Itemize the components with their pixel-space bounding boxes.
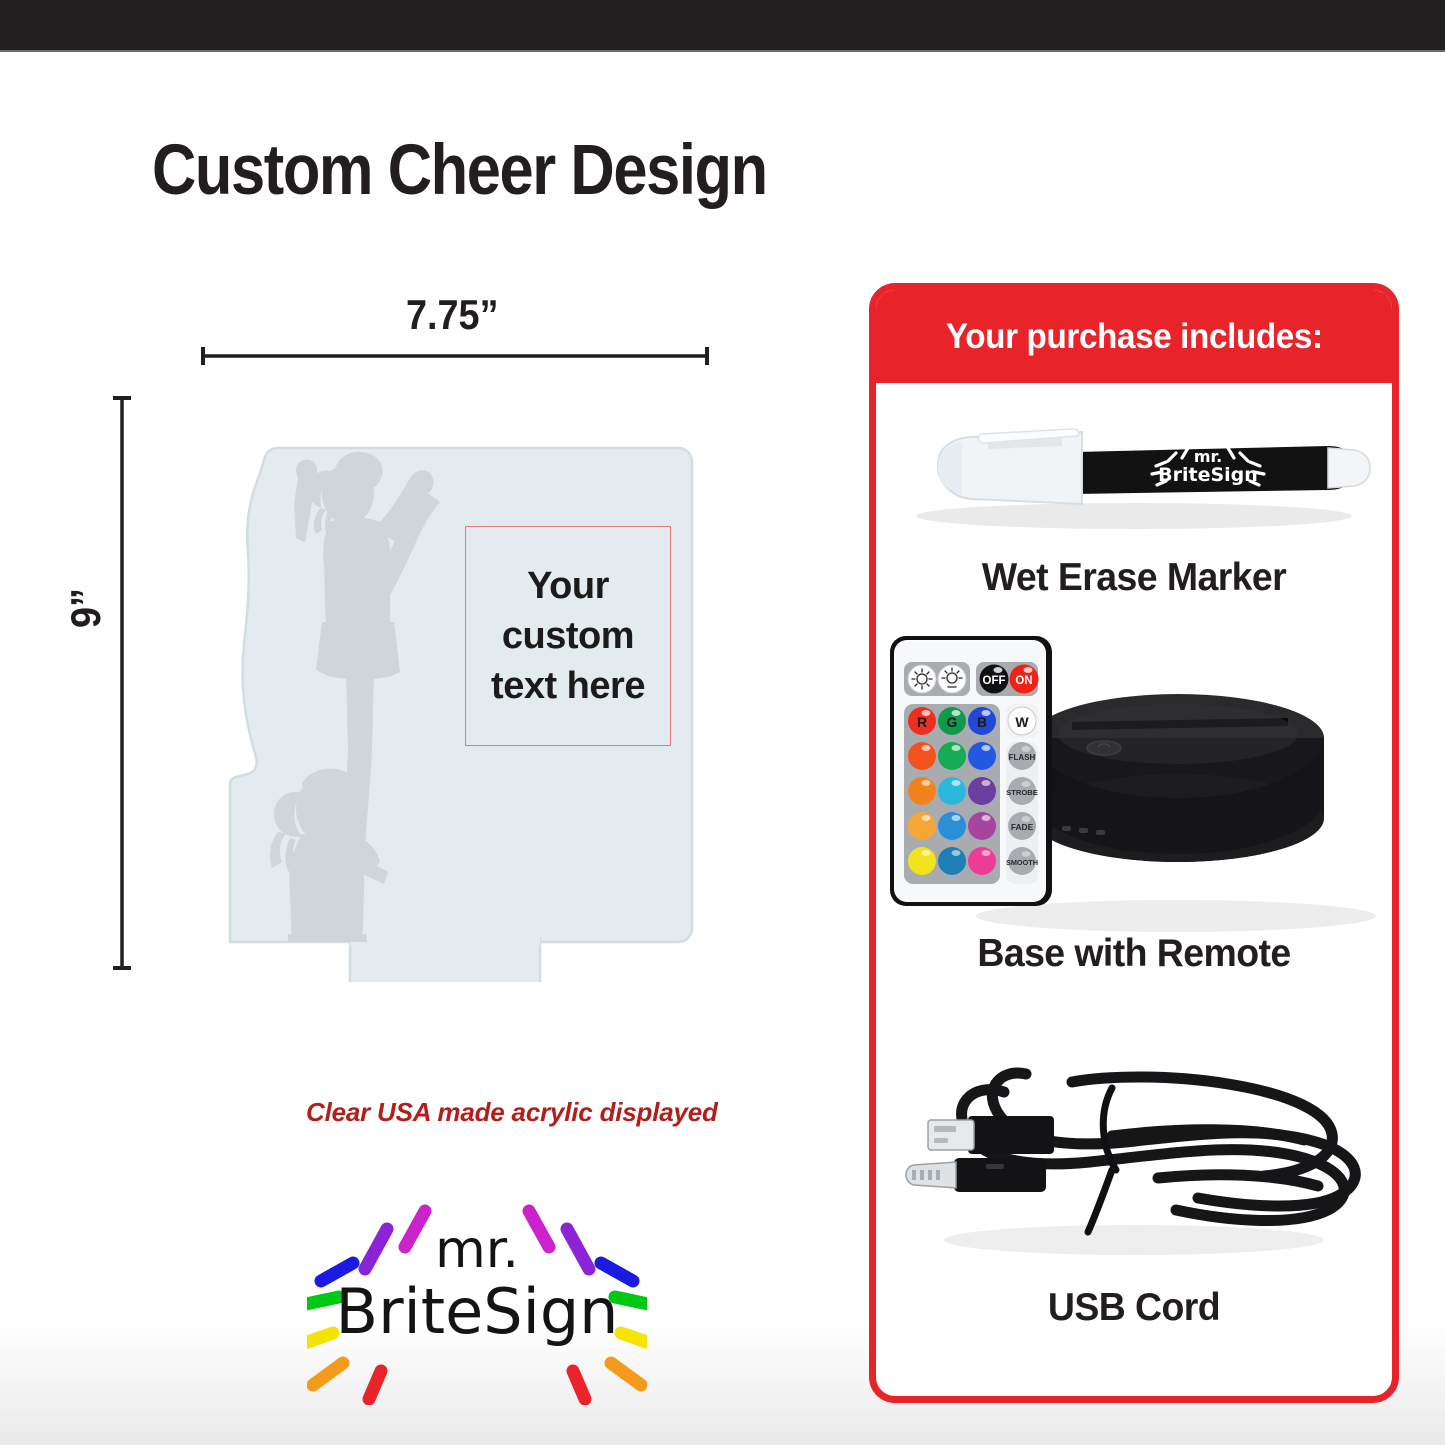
width-dimension-line bbox=[199, 346, 711, 366]
brand-logo: mr. BriteSign bbox=[307, 1185, 647, 1405]
svg-text:BriteSign: BriteSign bbox=[1158, 464, 1258, 486]
acrylic-panel-preview: Your custom text here bbox=[178, 382, 738, 982]
width-dimension-label: 7.75” bbox=[406, 291, 498, 339]
custom-text-line-1: Your bbox=[527, 561, 609, 611]
page-title: Custom Cheer Design bbox=[152, 128, 767, 210]
include-item-base-label: Base with Remote bbox=[886, 932, 1381, 976]
include-item-usb: USB Cord bbox=[876, 1030, 1392, 1370]
wet-erase-marker-icon: mr. BriteSign bbox=[876, 398, 1392, 548]
remote-channel-g: G bbox=[947, 714, 958, 730]
remote-channel-r: R bbox=[917, 714, 927, 730]
brand-line-1: mr. bbox=[435, 1220, 519, 1280]
height-dimension-label: 9” bbox=[62, 588, 110, 628]
remote-channel-w: W bbox=[1015, 714, 1029, 730]
infographic-page: Custom Cheer Design 7.75” 9” bbox=[0, 0, 1445, 1445]
remote-on-label: ON bbox=[1015, 675, 1032, 687]
led-base-and-remote-icon: OFF ON R bbox=[876, 630, 1392, 940]
remote-mode-smooth: SMOOTH bbox=[1006, 858, 1038, 867]
brand-line-2: BriteSign bbox=[336, 1275, 619, 1348]
include-item-base: OFF ON R bbox=[876, 630, 1392, 1030]
purchase-includes-title: Your purchase includes: bbox=[946, 317, 1323, 357]
remote-mode-flash: FLASH bbox=[1009, 753, 1036, 762]
custom-text-line-2: custom bbox=[502, 611, 634, 661]
usb-cable-icon bbox=[876, 1030, 1392, 1280]
include-item-marker-label: Wet Erase Marker bbox=[886, 556, 1381, 600]
height-dimension-line bbox=[112, 394, 132, 972]
acrylic-caption: Clear USA made acrylic displayed bbox=[306, 1097, 718, 1128]
remote-mode-strobe: STROBE bbox=[1006, 788, 1038, 797]
purchase-includes-header: Your purchase includes: bbox=[876, 290, 1392, 383]
remote-off-label: OFF bbox=[983, 675, 1006, 687]
remote-mode-fade: FADE bbox=[1011, 822, 1034, 832]
remote-channel-b: B bbox=[977, 714, 987, 730]
include-item-usb-label: USB Cord bbox=[886, 1286, 1381, 1330]
include-item-marker: mr. BriteSign Wet Erase Marker bbox=[876, 398, 1392, 628]
top-black-bar bbox=[0, 0, 1445, 52]
custom-text-line-3: text here bbox=[491, 661, 645, 711]
purchase-includes-panel: Your purchase includes: bbox=[869, 283, 1399, 1403]
custom-text-placeholder-box[interactable]: Your custom text here bbox=[465, 526, 671, 746]
